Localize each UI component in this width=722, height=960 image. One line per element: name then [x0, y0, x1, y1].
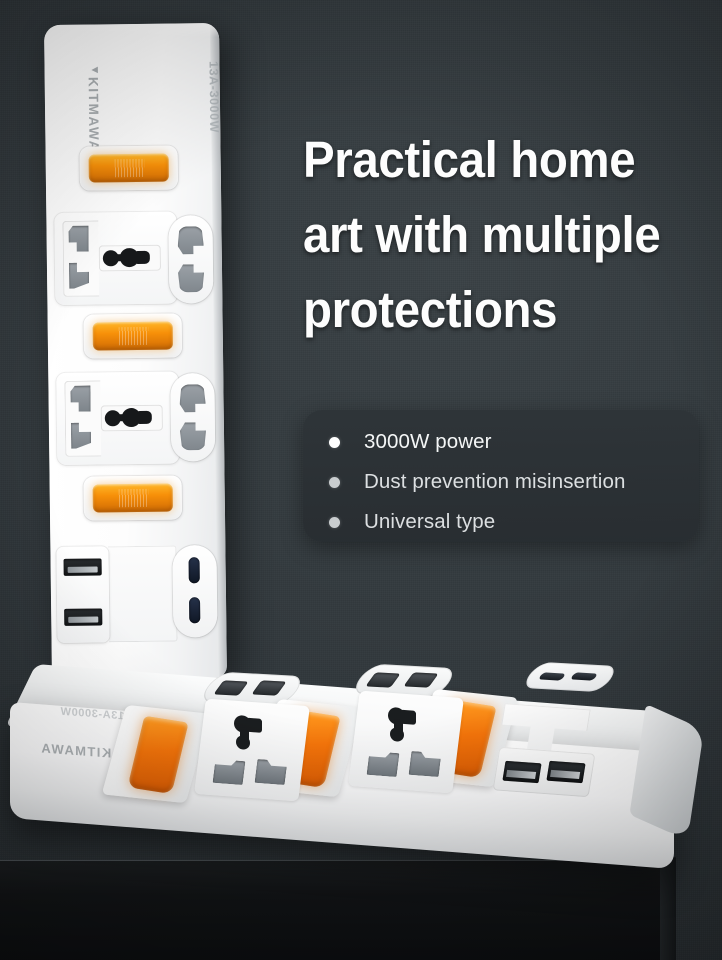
feature-item-label: Universal type [364, 510, 495, 534]
feature-list-card: 3000W power Dust prevention misinsertion… [303, 410, 699, 542]
page-title: Practical home art with multiple protect… [303, 122, 666, 347]
bullet-icon [329, 477, 340, 488]
bullet-icon [329, 437, 340, 448]
feature-item-label: 3000W power [364, 430, 492, 454]
feature-item: 3000W power [303, 422, 699, 462]
feature-item: Dust prevention misinsertion [303, 462, 699, 502]
feature-item: Universal type [303, 502, 699, 542]
feature-item-label: Dust prevention misinsertion [364, 470, 625, 494]
bullet-icon [329, 517, 340, 528]
product-banner: ▼KITMAWA 13A-3000W [0, 0, 722, 960]
